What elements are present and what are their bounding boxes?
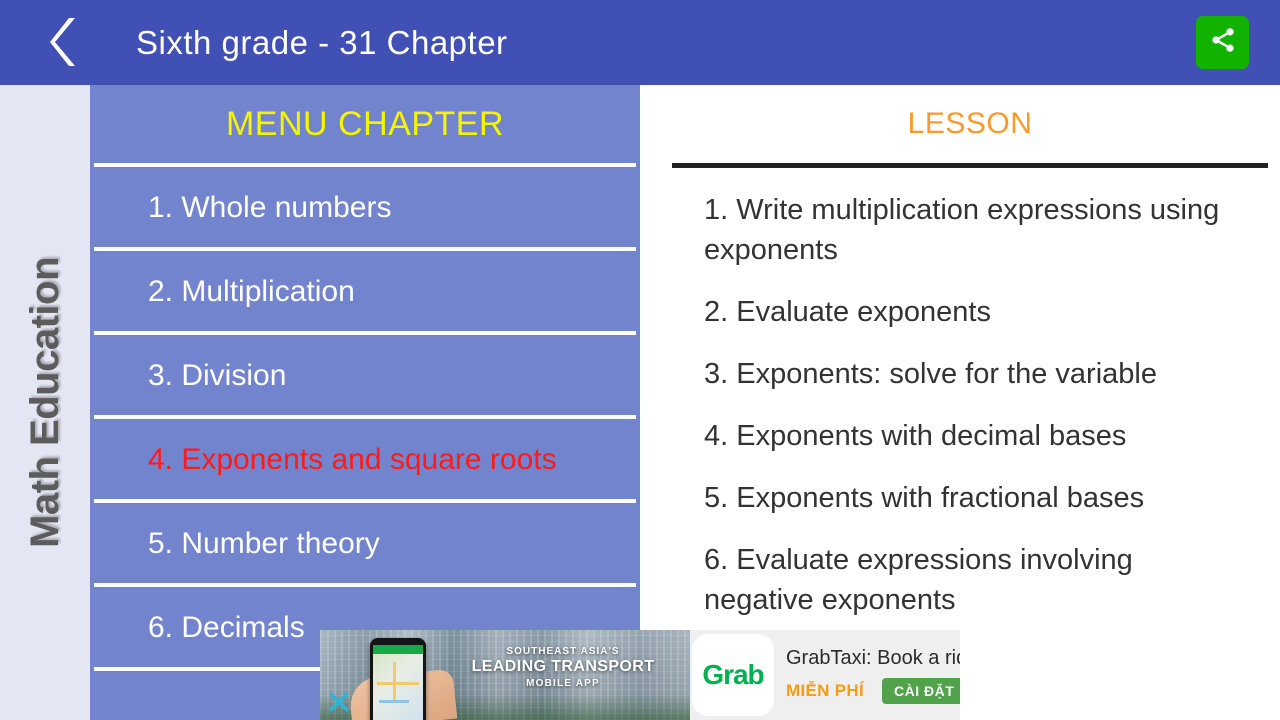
lesson-list: 1. Write multiplication expressions usin… [660, 168, 1280, 620]
lesson-panel: LESSON 1. Write multiplication expressio… [660, 85, 1280, 720]
ad-photo: SOUTHEAST ASIA'S LEADING TRANSPORT MOBIL… [320, 630, 690, 720]
menu-chapter-title: MENU CHAPTER [90, 85, 640, 163]
ad-free-label: MIỄN PHÍ [786, 681, 864, 701]
ad-caption-line3: MOBILE APP [438, 678, 688, 689]
ad-close-button[interactable] [322, 688, 356, 720]
ad-text-block: GrabTaxi: Book a ride MIỄN PHÍ CÀI ĐẶT [786, 647, 960, 704]
app-brand-label: Math Education [23, 257, 68, 548]
left-sidebar-strip: Math Education [0, 85, 90, 720]
page-title: Sixth grade - 31 Chapter [136, 0, 508, 85]
lesson-item-5[interactable]: 5. Exponents with fractional bases [704, 478, 1248, 518]
lesson-item-1[interactable]: 1. Write multiplication expressions usin… [704, 190, 1248, 270]
app-brand: Math Education [0, 85, 90, 720]
ad-caption-line1: SOUTHEAST ASIA'S [438, 646, 688, 657]
share-icon [1209, 26, 1237, 59]
share-button[interactable] [1196, 16, 1249, 69]
back-button[interactable] [30, 8, 98, 76]
menu-item-3[interactable]: 3. Division [90, 335, 640, 415]
lesson-item-6[interactable]: 6. Evaluate expressions involving negati… [704, 540, 1248, 620]
ad-phone-map [373, 654, 423, 720]
ad-phone-illustration [370, 638, 426, 720]
lesson-item-4[interactable]: 4. Exponents with decimal bases [704, 416, 1248, 456]
ad-subrow: MIỄN PHÍ CÀI ĐẶT [786, 678, 960, 704]
ad-content: Grab GrabTaxi: Book a ride MIỄN PHÍ CÀI … [690, 630, 960, 720]
ad-app-title: GrabTaxi: Book a ride [786, 647, 960, 670]
menu-item-5[interactable]: 5. Number theory [90, 503, 640, 583]
ad-phone-screen [373, 645, 423, 720]
ad-caption-line2: LEADING TRANSPORT [438, 658, 688, 676]
ad-app-logo-label: Grab [702, 659, 763, 691]
ad-app-logo: Grab [692, 634, 774, 716]
menu-item-2[interactable]: 2. Multiplication [90, 251, 640, 331]
menu-item-4[interactable]: 4. Exponents and square roots [90, 419, 640, 499]
ad-banner[interactable]: SOUTHEAST ASIA'S LEADING TRANSPORT MOBIL… [320, 630, 960, 720]
app-root: Sixth grade - 31 Chapter Math Education … [0, 0, 1280, 720]
close-x-icon [326, 689, 352, 720]
menu-chapter-panel: MENU CHAPTER 1. Whole numbers 2. Multipl… [90, 85, 640, 720]
ad-install-button[interactable]: CÀI ĐẶT [882, 678, 960, 704]
ad-phone-appbar [373, 645, 423, 654]
ad-photo-caption: SOUTHEAST ASIA'S LEADING TRANSPORT MOBIL… [438, 646, 688, 689]
menu-item-1[interactable]: 1. Whole numbers [90, 167, 640, 247]
lesson-title: LESSON [660, 85, 1280, 163]
lesson-item-3[interactable]: 3. Exponents: solve for the variable [704, 354, 1248, 394]
app-header: Sixth grade - 31 Chapter [0, 0, 1280, 85]
chevron-left-icon [49, 16, 79, 68]
lesson-item-2[interactable]: 2. Evaluate exponents [704, 292, 1248, 332]
